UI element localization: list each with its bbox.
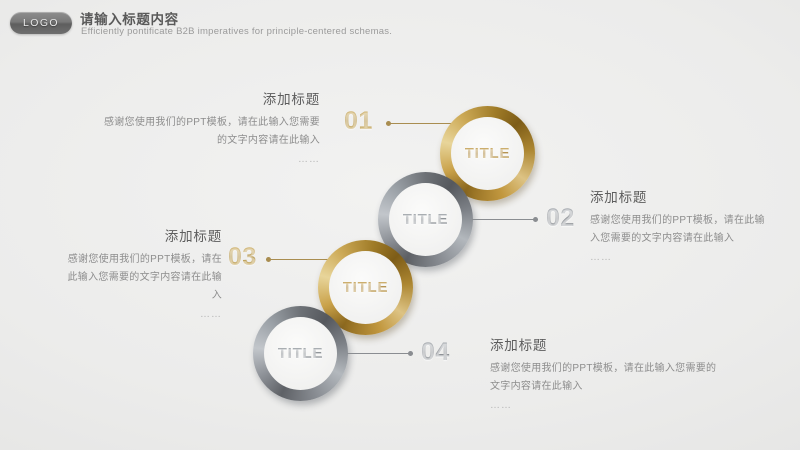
ring-label-02: TITLE <box>403 211 449 228</box>
block-dots-04: …… <box>490 400 722 411</box>
step-number-03: 03 <box>228 243 257 272</box>
block-title-01: 添加标题 <box>100 88 320 108</box>
connector-02 <box>472 219 538 220</box>
connector-04 <box>347 353 413 354</box>
ring-label-04: TITLE <box>278 345 324 362</box>
block-body-03: 感谢您使用我们的PPT模板，请在此输入您需要的文字内容请在此输入 <box>62 251 222 305</box>
logo-label: LOGO <box>23 17 59 29</box>
block-title-03: 添加标题 <box>62 225 222 245</box>
connector-dot-03 <box>266 257 271 262</box>
connector-line-04 <box>347 353 413 354</box>
text-block-02: 添加标题 感谢您使用我们的PPT模板，请在此输入您需要的文字内容请在此输入 …… <box>590 186 775 263</box>
step-number-04: 04 <box>421 338 450 367</box>
block-dots-02: …… <box>590 252 775 263</box>
logo-badge[interactable]: LOGO <box>10 12 72 34</box>
block-body-04: 感谢您使用我们的PPT模板，请在此输入您需要的文字内容请在此输入 <box>490 360 722 396</box>
step-number-02: 02 <box>546 204 575 233</box>
block-body-02: 感谢您使用我们的PPT模板，请在此输入您需要的文字内容请在此输入 <box>590 212 775 248</box>
connector-dot-04 <box>408 351 413 356</box>
connector-01 <box>386 123 452 124</box>
ring-label-01: TITLE <box>465 145 511 162</box>
slide-canvas: LOGO 请输入标题内容 Efficiently pontificate B2B… <box>0 0 800 450</box>
ring-04[interactable]: TITLE <box>253 306 348 401</box>
connector-line-01 <box>386 123 452 124</box>
text-block-03: 添加标题 感谢您使用我们的PPT模板，请在此输入您需要的文字内容请在此输入 …… <box>62 225 222 320</box>
connector-dot-01 <box>386 121 391 126</box>
connector-line-02 <box>472 219 538 220</box>
connector-03 <box>266 259 332 260</box>
text-block-01: 添加标题 感谢您使用我们的PPT模板，请在此输入您需要的文字内容请在此输入 …… <box>100 88 320 165</box>
block-title-02: 添加标题 <box>590 186 775 206</box>
ring-label-03: TITLE <box>343 279 389 296</box>
connector-dot-02 <box>533 217 538 222</box>
block-dots-03: …… <box>62 309 222 320</box>
step-number-01: 01 <box>344 107 373 136</box>
text-block-04: 添加标题 感谢您使用我们的PPT模板，请在此输入您需要的文字内容请在此输入 …… <box>490 334 722 411</box>
page-subtitle: Efficiently pontificate B2B imperatives … <box>81 26 392 37</box>
block-title-04: 添加标题 <box>490 334 722 354</box>
page-title: 请输入标题内容 <box>80 8 179 28</box>
connector-line-03 <box>266 259 332 260</box>
block-dots-01: …… <box>100 154 320 165</box>
block-body-01: 感谢您使用我们的PPT模板，请在此输入您需要的文字内容请在此输入 <box>100 114 320 150</box>
slide-header: LOGO 请输入标题内容 Efficiently pontificate B2B… <box>10 8 790 44</box>
